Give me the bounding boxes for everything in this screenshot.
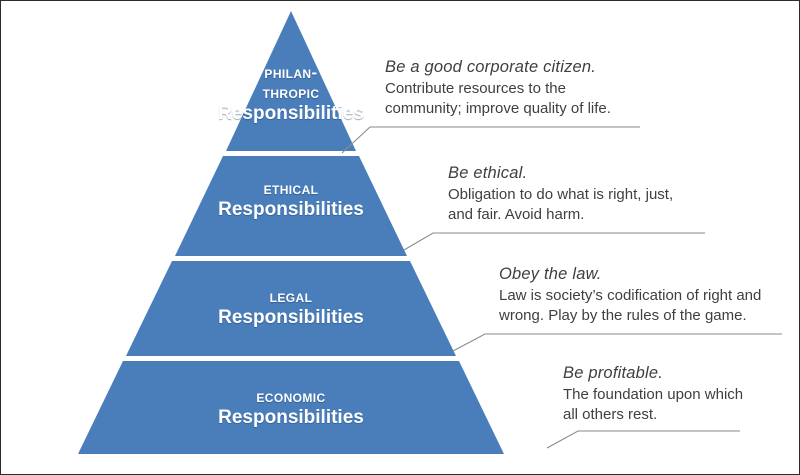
annotation-body-legal-line1: Law is society’s codification of right a… xyxy=(499,286,789,306)
annotation-body-economic-line1: The foundation upon which xyxy=(563,385,800,405)
annotation-lead-economic: Be profitable. xyxy=(563,363,800,384)
annotation-body-philanthropic-line1: Contribute resources to the xyxy=(385,79,665,99)
annotation-ethical: Be ethical. Obligation to do what is rig… xyxy=(448,163,718,225)
leader-line-ethical xyxy=(404,233,705,250)
annotation-body-economic-line2: all others rest. xyxy=(563,405,800,425)
pyramid-tier-ethical xyxy=(175,156,407,256)
leader-line-economic xyxy=(547,431,740,448)
annotation-philanthropic: Be a good corporate citizen. Contribute … xyxy=(385,57,665,119)
pyramid-tier-philanthropic xyxy=(226,11,356,151)
annotation-lead-ethical: Be ethical. xyxy=(448,163,718,184)
annotation-lead-philanthropic: Be a good corporate citizen. xyxy=(385,57,665,78)
annotation-legal: Obey the law. Law is society’s codificat… xyxy=(499,264,789,326)
annotation-lead-legal: Obey the law. xyxy=(499,264,789,285)
pyramid-tier-legal xyxy=(126,261,456,356)
pyramid-tier-economic xyxy=(78,361,504,454)
annotation-body-philanthropic-line2: community; improve quality of life. xyxy=(385,99,665,119)
annotation-body-ethical-line2: and fair. Avoid harm. xyxy=(448,205,718,225)
leader-line-legal xyxy=(453,334,782,351)
annotation-body-legal-line2: wrong. Play by the rules of the game. xyxy=(499,306,789,326)
annotation-body-ethical-line1: Obligation to do what is right, just, xyxy=(448,185,718,205)
csr-pyramid-figure: Philan- thropic Responsibilities Ethical… xyxy=(0,0,800,475)
annotation-economic: Be profitable. The foundation upon which… xyxy=(563,363,800,425)
leader-line-philanthropic xyxy=(342,127,640,153)
